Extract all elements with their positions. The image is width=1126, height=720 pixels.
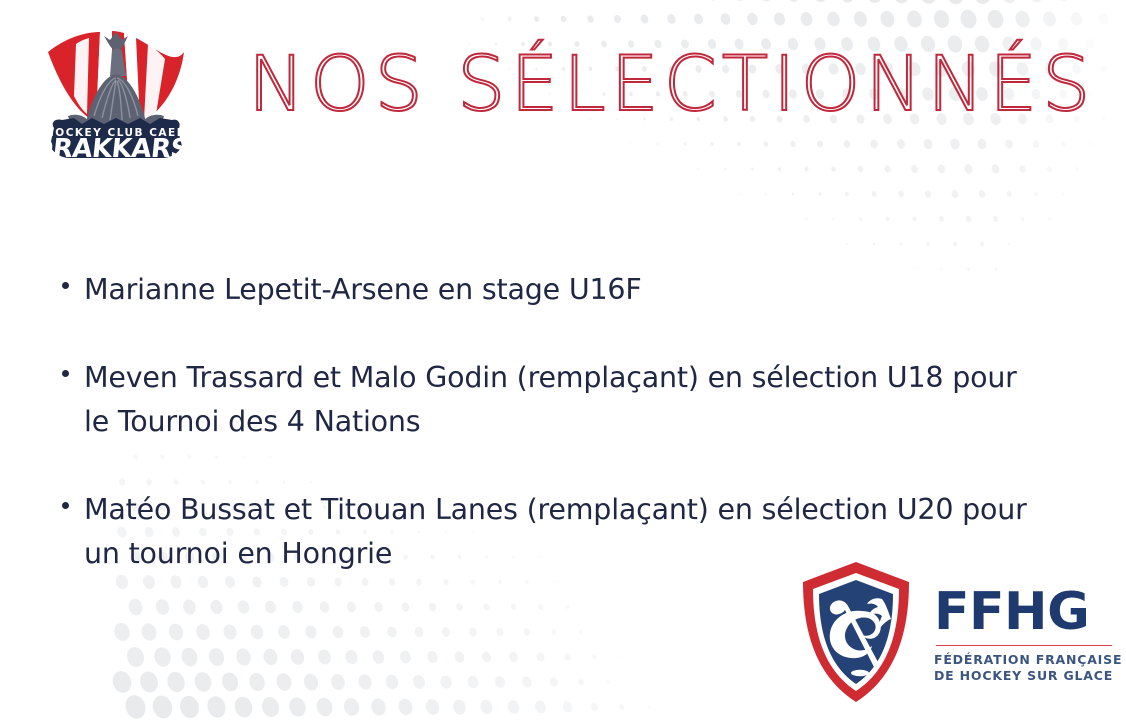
drakkars-club-logo: HOCKEY CLUB CAEN DRAKKARS bbox=[30, 18, 202, 166]
page-title-text: NOS SÉLECTIONNÉS bbox=[248, 39, 1095, 128]
ffhg-shield-icon bbox=[796, 559, 916, 705]
bullet-dot-icon bbox=[62, 370, 84, 377]
list-item-label: Meven Trassard et Malo Godin (remplaçant… bbox=[84, 356, 1092, 444]
club-name-text: DRAKKARS bbox=[30, 134, 190, 164]
page-title: NOS SÉLECTIONNÉS bbox=[248, 38, 1098, 130]
bullet-dot-icon bbox=[62, 282, 84, 289]
ffhg-wordmark: FFHG FÉDÉRATION FRANÇAISE DE HOCKEY SUR … bbox=[934, 580, 1122, 685]
ffhg-subtitle-line-2: DE HOCKEY SUR GLACE bbox=[934, 668, 1122, 684]
list-item-label: Marianne Lepetit-Arsene en stage U16F bbox=[84, 268, 1092, 312]
ffhg-subtitle-line-1: FÉDÉRATION FRANÇAISE bbox=[934, 652, 1122, 668]
list-item: Marianne Lepetit-Arsene en stage U16F bbox=[62, 268, 1092, 312]
selections-bullet-list: Marianne Lepetit-Arsene en stage U16F Me… bbox=[62, 268, 1092, 576]
bullet-dot-icon bbox=[62, 502, 84, 509]
slide-canvas: HOCKEY CLUB CAEN DRAKKARS NOS SÉLECTIONN… bbox=[0, 0, 1126, 720]
ffhg-divider-rule bbox=[936, 645, 1112, 647]
ffhg-acronym-text: FFHG bbox=[934, 586, 1122, 638]
ffhg-federation-logo: FFHG FÉDÉRATION FRANÇAISE DE HOCKEY SUR … bbox=[796, 556, 1108, 708]
list-item: Meven Trassard et Malo Godin (remplaçant… bbox=[62, 356, 1092, 444]
